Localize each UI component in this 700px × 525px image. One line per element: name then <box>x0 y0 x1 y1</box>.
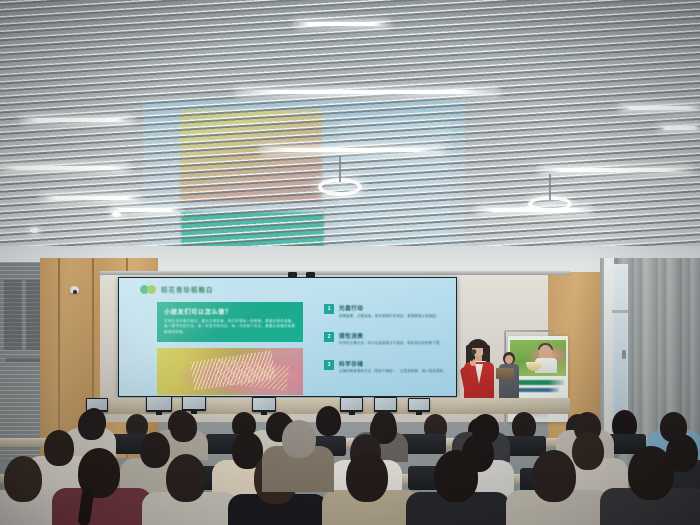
carton-box <box>496 368 514 379</box>
list-item: 2 理性消费 科学的正确方法，用小份适量餐点不浪费，养成良好的用餐习惯。 <box>324 332 448 347</box>
pendant-stem <box>339 156 341 182</box>
window-sash <box>612 310 628 313</box>
list-item-number: 3 <box>324 360 334 370</box>
lecture-hall-photo: 稻花香珍稻粮白 小朋友们可以怎么做？ 平常生活中我们每天，要为日常饮食，我们珍惜… <box>0 0 700 525</box>
ceiling-downlight <box>30 228 39 233</box>
audience-head <box>628 446 674 500</box>
slide-logo-text: 稻花香珍稻粮白 <box>161 285 213 294</box>
pendant-ring-light <box>528 196 572 212</box>
slide-callout-box: 小朋友们可以怎么做？ 平常生活中我们每天，要为日常饮食，我们珍惜每一粒粮食，要做… <box>157 302 303 342</box>
audience-head <box>532 450 576 502</box>
audience-head <box>170 412 197 442</box>
two-overlapping-circles-logo-icon <box>140 285 157 294</box>
audience-head <box>316 406 341 436</box>
slide-callout-body: 平常生活中我们每天，要为日常饮食，我们珍惜每一粒粮食，要做足够的准备。每一颗节约… <box>164 319 296 335</box>
list-item: 1 光盘行动 按需取餐，点餐适量，剩余食物打包带走，爱惜粮食从我做起。 <box>324 304 448 319</box>
led-strip-light <box>238 90 498 94</box>
led-strip-light <box>296 22 388 26</box>
pendant-stem <box>549 174 551 200</box>
pendant-ring-light <box>318 178 362 196</box>
list-item-title: 科学存储 <box>339 360 448 368</box>
audience-head <box>78 410 105 440</box>
led-strip-light <box>660 126 700 130</box>
audience-head <box>572 432 604 470</box>
wall-panel-seam <box>4 280 22 350</box>
presentation-slide: 稻花香珍稻粮白 小朋友们可以怎么做？ 平常生活中我们每天，要为日常饮食，我们珍惜… <box>119 278 456 396</box>
list-item-body: 按需取餐，点餐适量，剩余食物打包带走，爱惜粮食从我做起。 <box>339 314 448 319</box>
slide-logo: 稻花香珍稻粮白 <box>140 285 213 294</box>
list-item-title: 光盘行动 <box>339 304 448 312</box>
led-strip-light <box>112 208 180 212</box>
list-item: 3 科学存储 正确的粮食储存方法（阴凉干燥处），注意保质期，减少霉变损耗。 <box>324 360 448 375</box>
audience-head <box>44 430 74 466</box>
list-item-number: 1 <box>324 304 334 314</box>
list-item-body: 科学的正确方法，用小份适量餐点不浪费，养成良好的用餐习惯。 <box>339 341 448 346</box>
audience-head <box>140 432 170 468</box>
slide-rice-photo <box>157 348 303 395</box>
audience-head <box>434 450 478 502</box>
audience-head <box>166 454 206 502</box>
slide-numbered-list: 1 光盘行动 按需取餐，点餐适量，剩余食物打包带走，爱惜粮食从我做起。 2 理性… <box>324 304 448 388</box>
led-strip-light <box>0 166 128 170</box>
led-strip-light <box>22 118 132 122</box>
security-camera-icon <box>70 286 79 293</box>
led-strip-light <box>540 168 690 172</box>
list-item-title: 理性消费 <box>339 332 448 340</box>
ceiling-downlight <box>112 212 121 217</box>
audience-area <box>0 392 700 525</box>
audience-head <box>4 456 42 502</box>
assistant-face <box>505 355 513 364</box>
wall-panel-seam <box>6 358 42 362</box>
window-handle[interactable] <box>622 350 626 359</box>
led-strip-light <box>620 106 700 110</box>
banner-top-arm <box>504 330 554 332</box>
lighting-track-rail <box>100 271 570 275</box>
audience-head <box>346 452 388 502</box>
list-item-number: 2 <box>324 332 334 342</box>
projection-screen: 稻花香珍稻粮白 小朋友们可以怎么做？ 平常生活中我们每天，要为日常饮食，我们珍惜… <box>118 277 457 397</box>
list-item-body: 正确的粮食储存方法（阴凉干燥处），注意保质期，减少霉变损耗。 <box>339 369 448 374</box>
led-strip-light <box>42 196 140 200</box>
slide-callout-title: 小朋友们可以怎么做？ <box>164 307 296 316</box>
audience-head-grey <box>282 420 316 458</box>
led-strip-light <box>262 148 442 152</box>
